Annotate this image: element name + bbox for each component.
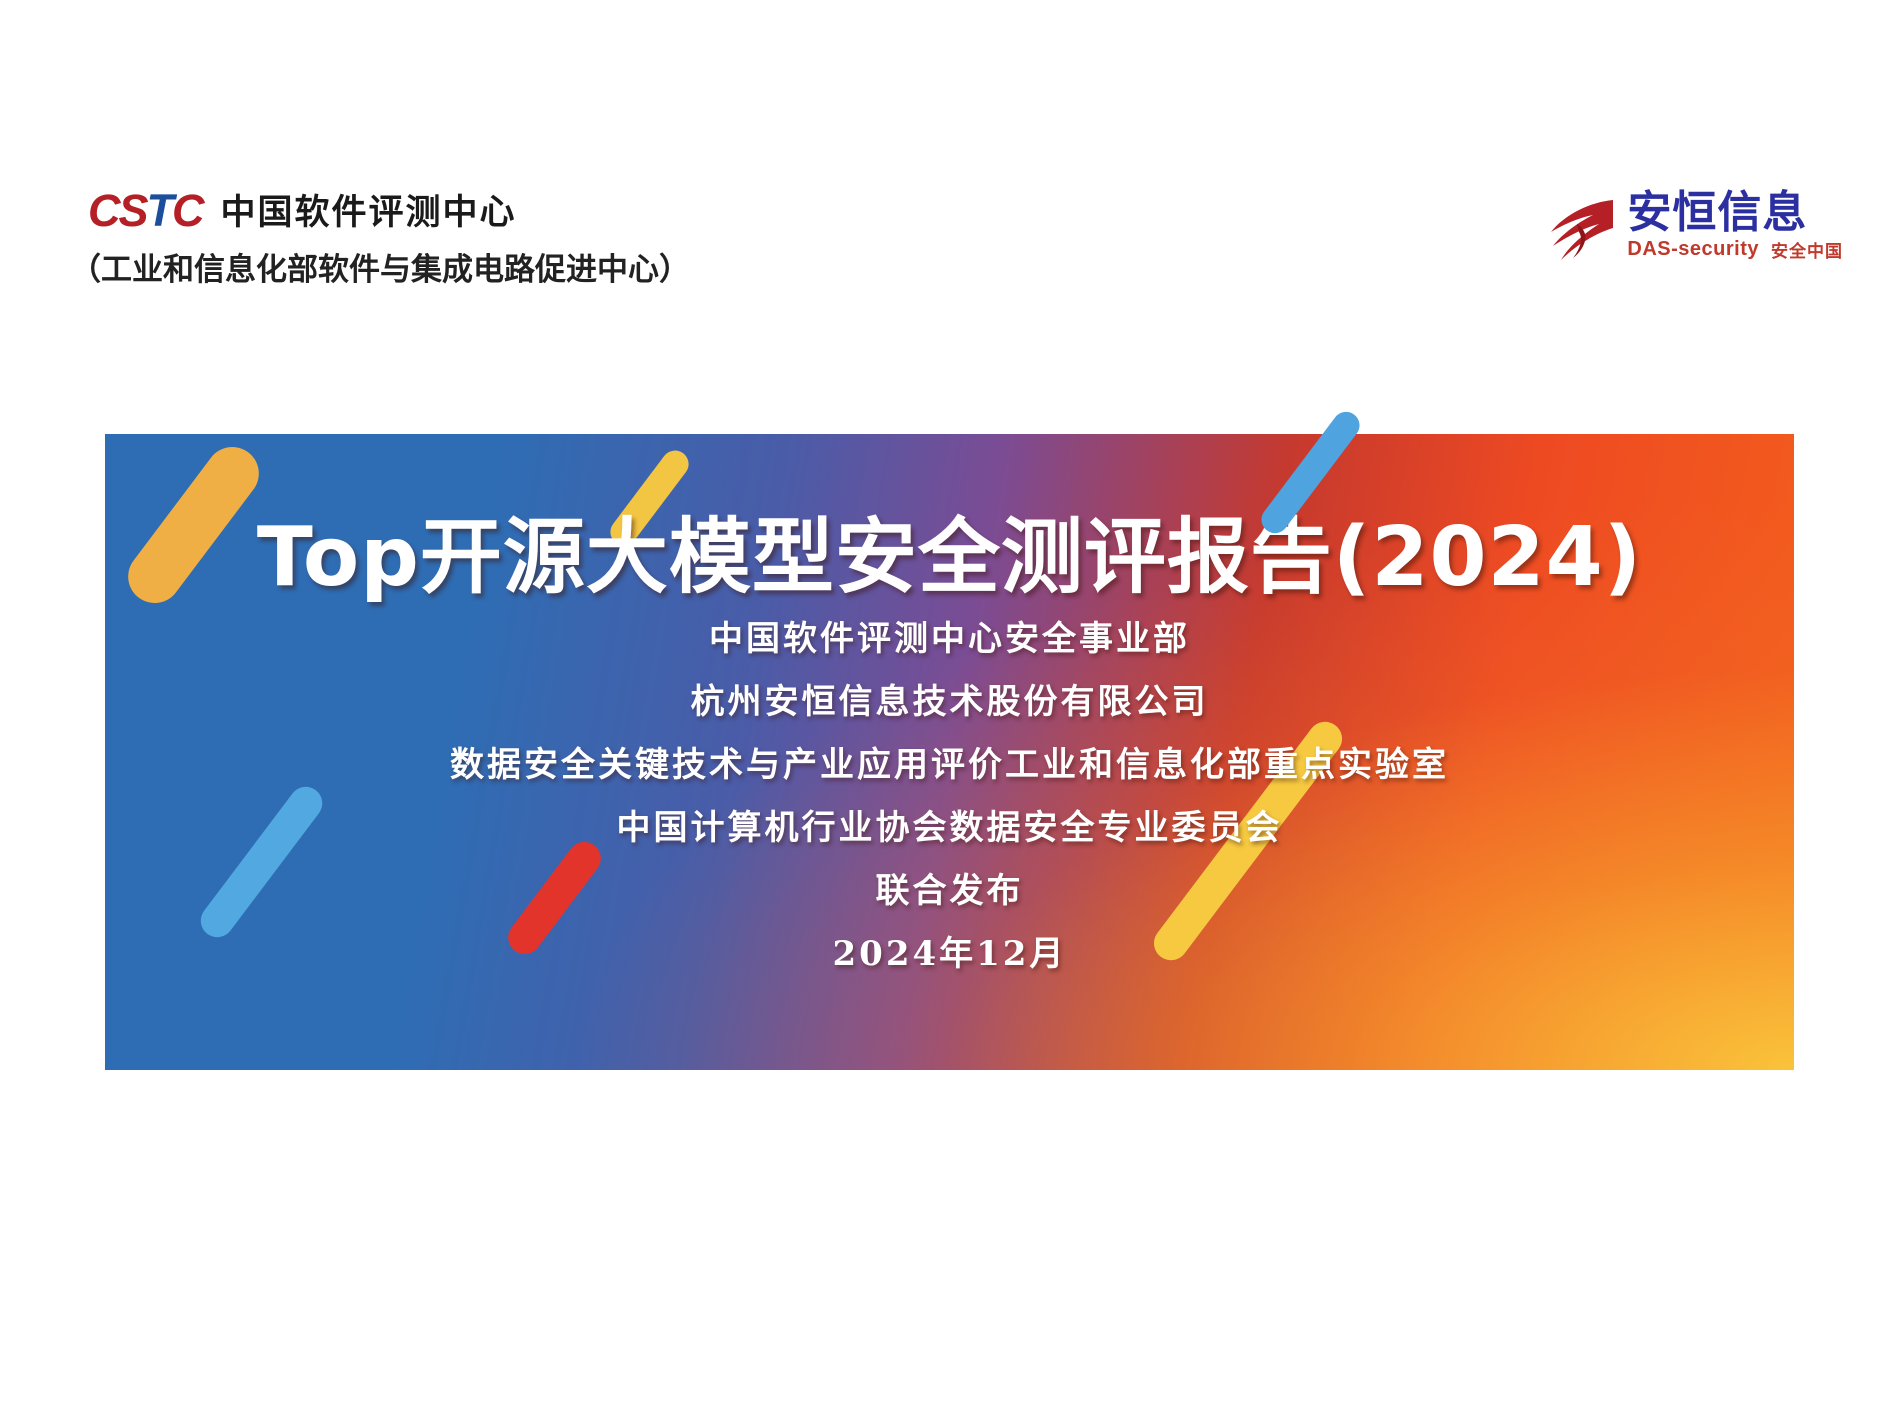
publisher-line: 中国软件评测中心安全事业部 — [105, 622, 1794, 656]
cstc-letter-c2: C — [172, 185, 203, 236]
cstc-logo-row: CSTC 中国软件评测中心 — [88, 186, 690, 234]
title-banner-wrap: Top开源大模型安全测评报告(2024) 中国软件评测中心安全事业部 杭州安恒信… — [105, 400, 1794, 1070]
report-title: Top开源大模型安全测评报告(2024) — [105, 490, 1794, 609]
publication-date: 2024年12月 — [105, 937, 1794, 971]
title-banner: Top开源大模型安全测评报告(2024) 中国软件评测中心安全事业部 杭州安恒信… — [105, 434, 1794, 1070]
publisher-line: 数据安全关键技术与产业应用评价工业和信息化部重点实验室 — [105, 748, 1794, 782]
publisher-line: 联合发布 — [105, 874, 1794, 908]
publisher-line: 中国计算机行业协会数据安全专业委员会 — [105, 811, 1794, 845]
cstc-letter-c1: C — [88, 185, 119, 236]
cstc-wordmark-logo: CSTC — [88, 188, 203, 233]
cstc-organization-subtitle: （工业和信息化部软件与集成电路促进中心） — [70, 244, 690, 289]
das-swoosh-icon — [1547, 194, 1617, 266]
header-logo-bar: CSTC 中国软件评测中心 （工业和信息化部软件与集成电路促进中心） 安恒信息 … — [0, 0, 1898, 330]
das-company-name: 安恒信息 — [1627, 190, 1843, 236]
das-security-logo-block: 安恒信息 DAS-security 安全中国 — [1547, 190, 1843, 262]
cstc-letter-t: T — [147, 185, 173, 236]
cstc-letter-s: S — [119, 185, 147, 236]
publisher-line: 杭州安恒信息技术股份有限公司 — [105, 685, 1794, 719]
das-tagline-row: DAS-security 安全中国 — [1627, 237, 1843, 262]
cstc-logo-block: CSTC 中国软件评测中心 （工业和信息化部软件与集成电路促进中心） — [88, 186, 690, 289]
cstc-organization-name: 中国软件评测中心 — [221, 196, 517, 231]
publisher-block: 中国软件评测中心安全事业部 杭州安恒信息技术股份有限公司 数据安全关键技术与产业… — [105, 622, 1794, 971]
das-text-block: 安恒信息 DAS-security 安全中国 — [1627, 190, 1843, 262]
das-latin-name: DAS-security — [1627, 238, 1759, 261]
das-tagline-cn: 安全中国 — [1771, 237, 1843, 262]
